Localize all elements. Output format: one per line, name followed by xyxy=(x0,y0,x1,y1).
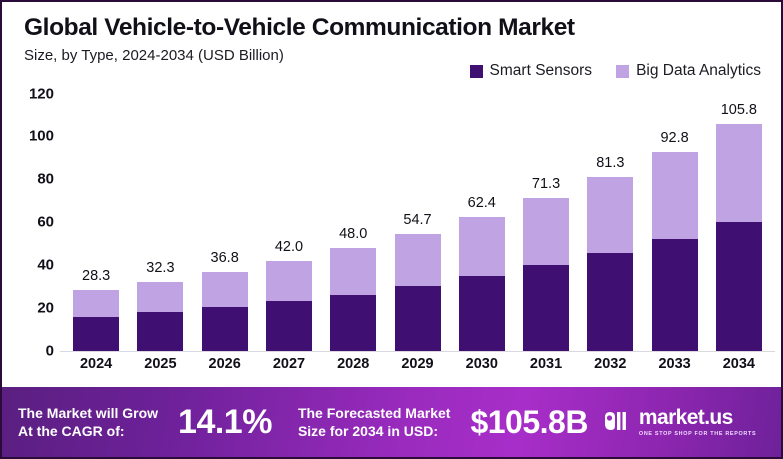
bar-segment-big-data-analytics[interactable] xyxy=(73,290,119,317)
bar-value-label: 28.3 xyxy=(82,268,110,284)
bar-segment-smart-sensors[interactable] xyxy=(652,239,698,351)
bar-group[interactable] xyxy=(202,90,248,351)
brand-tagline: ONE STOP SHOP FOR THE REPORTS xyxy=(639,431,756,437)
brand-name: market.us xyxy=(639,407,756,428)
bars-container: 28.332.336.842.048.054.762.471.381.392.8… xyxy=(64,90,771,351)
chart-subtitle: Size, by Type, 2024-2034 (USD Billion) xyxy=(24,47,284,64)
legend-item-big-data-analytics[interactable]: Big Data Analytics xyxy=(616,62,761,80)
bar-segment-smart-sensors[interactable] xyxy=(587,253,633,351)
bar-value-label: 42.0 xyxy=(275,239,303,255)
x-axis: 2024202520262027202820292030203120322033… xyxy=(64,356,771,386)
bar-segment-smart-sensors[interactable] xyxy=(523,265,569,351)
y-axis-tick: 100 xyxy=(29,128,54,145)
bar-value-label: 92.8 xyxy=(660,130,688,146)
market-us-logo-icon xyxy=(602,408,632,436)
bar-segment-smart-sensors[interactable] xyxy=(73,317,119,351)
bar-group[interactable] xyxy=(266,90,312,351)
y-axis-tick: 120 xyxy=(29,85,54,102)
axis-baseline xyxy=(60,351,775,352)
x-axis-tick-2025: 2025 xyxy=(137,356,183,372)
bar-segment-big-data-analytics[interactable] xyxy=(395,234,441,286)
cagr-caption-line2: At the CAGR of: xyxy=(18,422,158,440)
square-swatch-icon xyxy=(616,65,629,78)
bar-segment-big-data-analytics[interactable] xyxy=(459,217,505,276)
x-axis-tick-2029: 2029 xyxy=(395,356,441,372)
y-axis-tick: 20 xyxy=(37,300,54,317)
bar-value-label: 36.8 xyxy=(211,250,239,266)
bar-group[interactable] xyxy=(459,90,505,351)
bar-value-label: 81.3 xyxy=(596,155,624,171)
y-axis-tick: 80 xyxy=(37,171,54,188)
bar-segment-big-data-analytics[interactable] xyxy=(652,152,698,239)
chart-infographic: Global Vehicle-to-Vehicle Communication … xyxy=(0,0,783,459)
bar-group[interactable] xyxy=(716,90,762,351)
x-axis-tick-2024: 2024 xyxy=(73,356,119,372)
x-axis-tick-2031: 2031 xyxy=(523,356,569,372)
x-axis-tick-2034: 2034 xyxy=(716,356,762,372)
bar-group[interactable] xyxy=(330,90,376,351)
x-axis-tick-2033: 2033 xyxy=(652,356,698,372)
brand-logo[interactable]: market.us ONE STOP SHOP FOR THE REPORTS xyxy=(602,407,756,437)
x-axis-tick-2026: 2026 xyxy=(202,356,248,372)
bar-group[interactable] xyxy=(587,90,633,351)
bar-segment-big-data-analytics[interactable] xyxy=(716,124,762,222)
bar-segment-big-data-analytics[interactable] xyxy=(587,177,633,253)
bar-segment-smart-sensors[interactable] xyxy=(716,222,762,351)
bar-group[interactable] xyxy=(523,90,569,351)
square-swatch-icon xyxy=(470,65,483,78)
cagr-caption-line1: The Market will Grow xyxy=(18,404,158,422)
bar-value-label: 62.4 xyxy=(468,195,496,211)
cagr-caption: The Market will Grow At the CAGR of: xyxy=(18,404,158,441)
chart-legend: Smart Sensors Big Data Analytics xyxy=(470,62,761,80)
page-title: Global Vehicle-to-Vehicle Communication … xyxy=(24,14,575,42)
bar-group[interactable] xyxy=(137,90,183,351)
cagr-value: 14.1% xyxy=(178,403,272,442)
legend-label: Smart Sensors xyxy=(490,62,593,80)
bar-segment-big-data-analytics[interactable] xyxy=(137,282,183,312)
bar-segment-smart-sensors[interactable] xyxy=(459,276,505,351)
forecast-caption-line2: Size for 2034 in USD: xyxy=(298,422,451,440)
bar-segment-smart-sensors[interactable] xyxy=(137,312,183,351)
y-axis-tick: 0 xyxy=(46,343,54,360)
bar-value-label: 54.7 xyxy=(403,212,431,228)
bar-segment-big-data-analytics[interactable] xyxy=(330,248,376,295)
bar-value-label: 105.8 xyxy=(721,102,757,118)
bar-value-label: 71.3 xyxy=(532,176,560,192)
x-axis-tick-2028: 2028 xyxy=(330,356,376,372)
bar-group[interactable] xyxy=(73,90,119,351)
brand-text: market.us ONE STOP SHOP FOR THE REPORTS xyxy=(639,407,756,437)
bar-segment-smart-sensors[interactable] xyxy=(330,295,376,351)
bar-segment-big-data-analytics[interactable] xyxy=(523,198,569,265)
chart-header: Global Vehicle-to-Vehicle Communication … xyxy=(2,2,783,90)
bar-segment-big-data-analytics[interactable] xyxy=(202,272,248,307)
bar-value-label: 32.3 xyxy=(146,260,174,276)
bar-value-label: 48.0 xyxy=(339,226,367,242)
x-axis-tick-2030: 2030 xyxy=(459,356,505,372)
y-axis-tick: 40 xyxy=(37,257,54,274)
x-axis-tick-2032: 2032 xyxy=(587,356,633,372)
legend-label: Big Data Analytics xyxy=(636,62,761,80)
bar-segment-big-data-analytics[interactable] xyxy=(266,261,312,301)
x-axis-tick-2027: 2027 xyxy=(266,356,312,372)
bar-segment-smart-sensors[interactable] xyxy=(266,301,312,351)
summary-banner: The Market will Grow At the CAGR of: 14.… xyxy=(2,387,783,457)
bar-segment-smart-sensors[interactable] xyxy=(395,286,441,351)
y-axis-tick: 60 xyxy=(37,214,54,231)
legend-item-smart-sensors[interactable]: Smart Sensors xyxy=(470,62,593,80)
forecast-caption: The Forecasted Market Size for 2034 in U… xyxy=(298,404,451,441)
forecast-caption-line1: The Forecasted Market xyxy=(298,404,451,422)
forecast-value: $105.8B xyxy=(470,404,587,441)
bar-segment-smart-sensors[interactable] xyxy=(202,307,248,351)
chart-plot-area: 020406080100120 28.332.336.842.048.054.7… xyxy=(2,90,783,387)
y-axis: 020406080100120 xyxy=(2,90,62,387)
